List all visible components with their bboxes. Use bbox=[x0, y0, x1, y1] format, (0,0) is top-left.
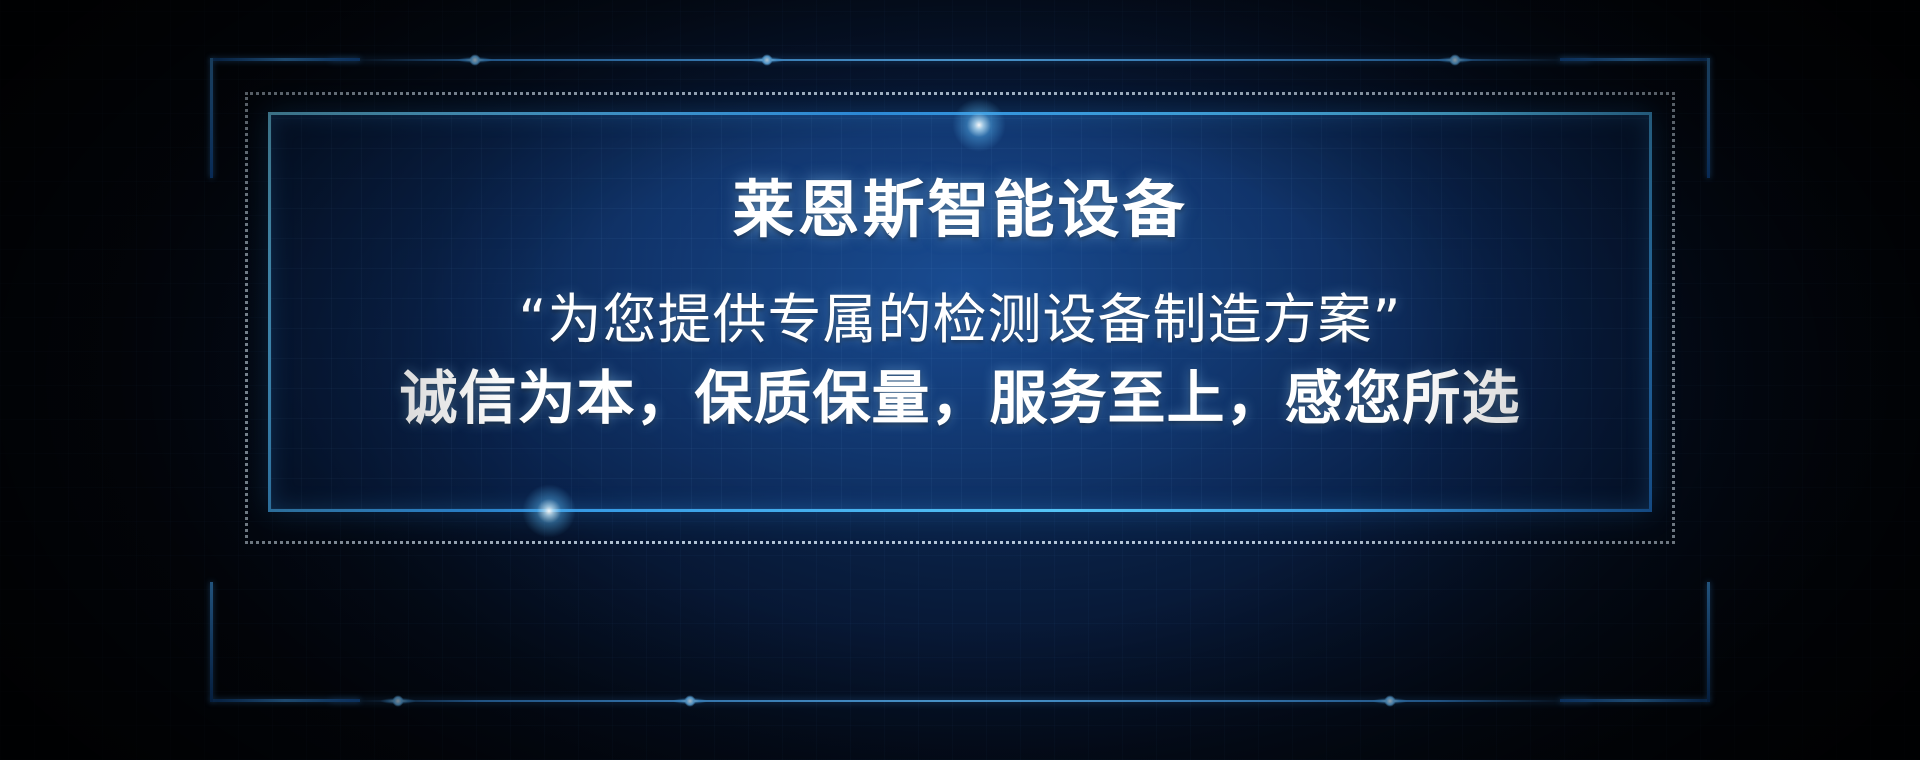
banner-text-block: 莱恩斯智能设备 “为您提供专属的检测设备制造方案” 诚信为本，保质保量，服务至上… bbox=[271, 115, 1649, 509]
banner-stage: 莱恩斯智能设备 “为您提供专属的检测设备制造方案” 诚信为本，保质保量，服务至上… bbox=[0, 0, 1920, 760]
bracket-line-vertical bbox=[210, 582, 213, 702]
bracket-corner-bottom-right-icon bbox=[1560, 582, 1710, 702]
inner-content-panel: 莱恩斯智能设备 “为您提供专属的检测设备制造方案” 诚信为本，保质保量，服务至上… bbox=[268, 112, 1652, 512]
bracket-line-vertical bbox=[1707, 58, 1710, 178]
tech-rail-bottom bbox=[330, 700, 1590, 702]
tagline-quote: “为您提供专属的检测设备制造方案” bbox=[519, 288, 1402, 352]
bracket-line-vertical bbox=[210, 58, 213, 178]
page-title: 莱恩斯智能设备 bbox=[732, 176, 1187, 244]
bracket-corner-bottom-left-icon bbox=[210, 582, 360, 702]
tech-rail-top bbox=[330, 59, 1590, 61]
bracket-line-vertical bbox=[1707, 582, 1710, 702]
tagline-slogan: 诚信为本，保质保量，服务至上，感您所选 bbox=[399, 364, 1520, 432]
